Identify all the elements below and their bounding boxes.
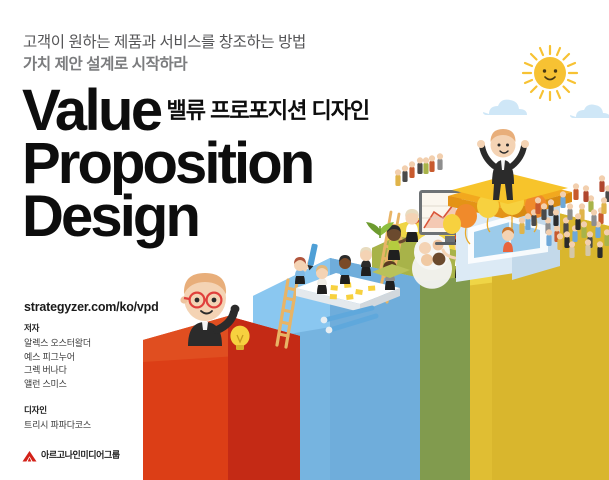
publisher-name: 아르고나인미디어그룹 xyxy=(41,448,120,461)
designer-label: 디자인 xyxy=(24,404,224,416)
sun-icon xyxy=(523,46,577,100)
page-title: Value밸류 프로포지션 디자인 Proposition Design xyxy=(22,85,402,242)
author-name: 예스 피그누어 xyxy=(24,351,224,365)
title-line-1: Value xyxy=(22,85,161,136)
authors-label: 저자 xyxy=(24,322,224,334)
author-name: 알렉스 오스터왈더 xyxy=(24,337,224,351)
cover-text-column: 고객이 원하는 제품과 서비스를 창조하는 방법 가치 제안 설계로 시작하라 … xyxy=(0,0,400,480)
designer-name: 트리시 파파다코스 xyxy=(24,419,224,433)
subtitle-line-1: 고객이 원하는 제품과 서비스를 창조하는 방법 xyxy=(23,30,306,52)
publisher: 아르고나인미디어그룹 xyxy=(22,448,120,461)
title-korean: 밸류 프로포지션 디자인 xyxy=(167,93,370,125)
credits-block: 저자 알렉스 오스터왈더 예스 피그누어 그렉 버나다 앨런 스미스 디자인 트… xyxy=(24,322,224,432)
title-line-3: Design xyxy=(22,191,198,242)
strategyzer-url[interactable]: strategyzer.com/ko/vpd xyxy=(24,300,159,314)
book-cover: 고객이 원하는 제품과 서비스를 창조하는 방법 가치 제안 설계로 시작하라 … xyxy=(0,0,609,480)
publisher-logo-icon xyxy=(22,449,37,460)
author-name: 그렉 버나다 xyxy=(24,364,224,378)
subtitle-line-2: 가치 제안 설계로 시작하라 xyxy=(23,52,187,74)
title-line-2: Proposition xyxy=(22,138,312,189)
author-name: 앨런 스미스 xyxy=(24,378,224,392)
spacer xyxy=(24,392,224,404)
